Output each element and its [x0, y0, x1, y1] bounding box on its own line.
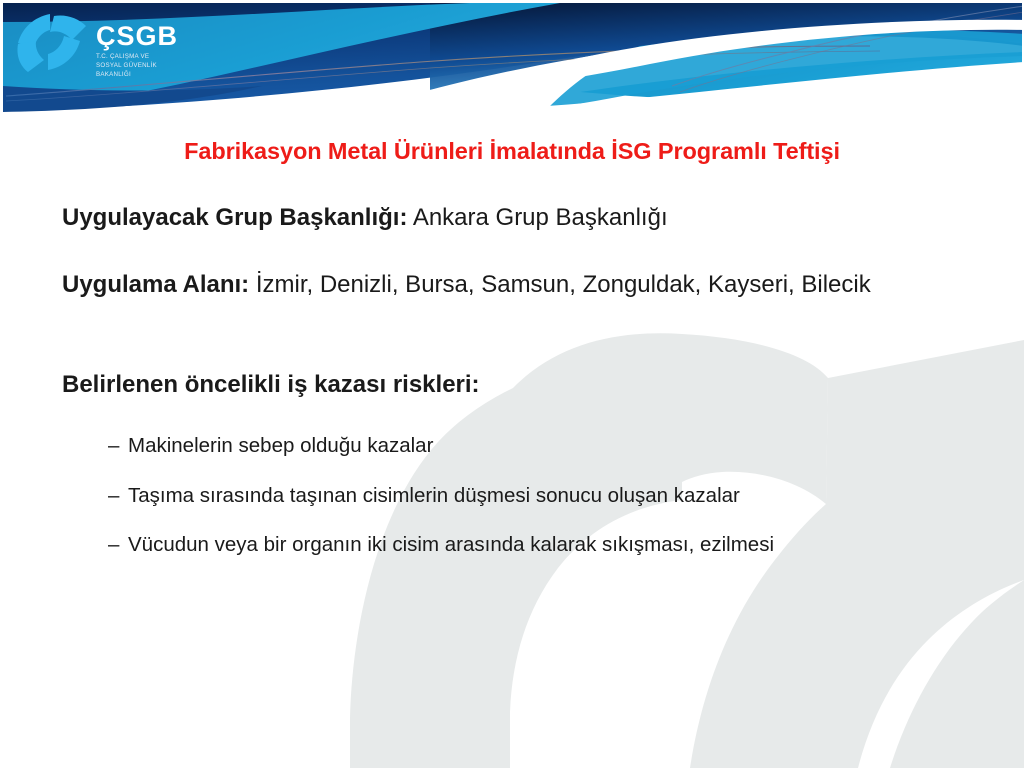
logo-subtitle: T.C. ÇALIŞMA VE SOSYAL GÜVENLİK BAKANLIĞ…	[96, 53, 178, 79]
dash-marker-icon: –	[108, 436, 128, 457]
area-value: İzmir, Denizli, Bursa, Samsun, Zonguldak…	[249, 271, 871, 298]
csgb-logo: ÇSGB T.C. ÇALIŞMA VE SOSYAL GÜVENLİK BAK…	[14, 14, 254, 80]
list-item-label: Makinelerin sebep olduğu kazalar	[128, 436, 433, 457]
slide-canvas: ÇSGB T.C. ÇALIŞMA VE SOSYAL GÜVENLİK BAK…	[0, 0, 1024, 768]
logo-acronym: ÇSGB	[96, 23, 178, 50]
list-item: – Vücudun veya bir organın iki cisim ara…	[108, 535, 988, 556]
list-item-label: Vücudun veya bir organın iki cisim arası…	[128, 535, 774, 556]
list-item: – Makinelerin sebep olduğu kazalar	[108, 436, 988, 457]
risks-list: – Makinelerin sebep olduğu kazalar – Taş…	[108, 436, 988, 585]
group-label: Uygulayacak Grup Başkanlığı:	[62, 204, 407, 231]
page-title: Fabrikasyon Metal Ürünleri İmalatında İS…	[62, 138, 962, 165]
dash-marker-icon: –	[108, 486, 128, 507]
list-item-label: Taşıma sırasında taşınan cisimlerin düşm…	[128, 486, 740, 507]
paragraph-area: Uygulama Alanı: İzmir, Denizli, Bursa, S…	[62, 268, 964, 303]
area-label: Uygulama Alanı:	[62, 271, 249, 298]
paragraph-group: Uygulayacak Grup Başkanlığı: Ankara Grup…	[62, 201, 964, 236]
dash-marker-icon: –	[108, 535, 128, 556]
header-banner: ÇSGB T.C. ÇALIŞMA VE SOSYAL GÜVENLİK BAK…	[0, 0, 1024, 118]
group-value: Ankara Grup Başkanlığı	[407, 204, 667, 231]
csgb-logo-mark-icon	[14, 14, 88, 72]
slide-content: Fabrikasyon Metal Ürünleri İmalatında İS…	[0, 118, 1024, 768]
list-item: – Taşıma sırasında taşınan cisimlerin dü…	[108, 486, 988, 507]
risks-heading: Belirlenen öncelikli iş kazası riskleri:	[62, 368, 964, 403]
